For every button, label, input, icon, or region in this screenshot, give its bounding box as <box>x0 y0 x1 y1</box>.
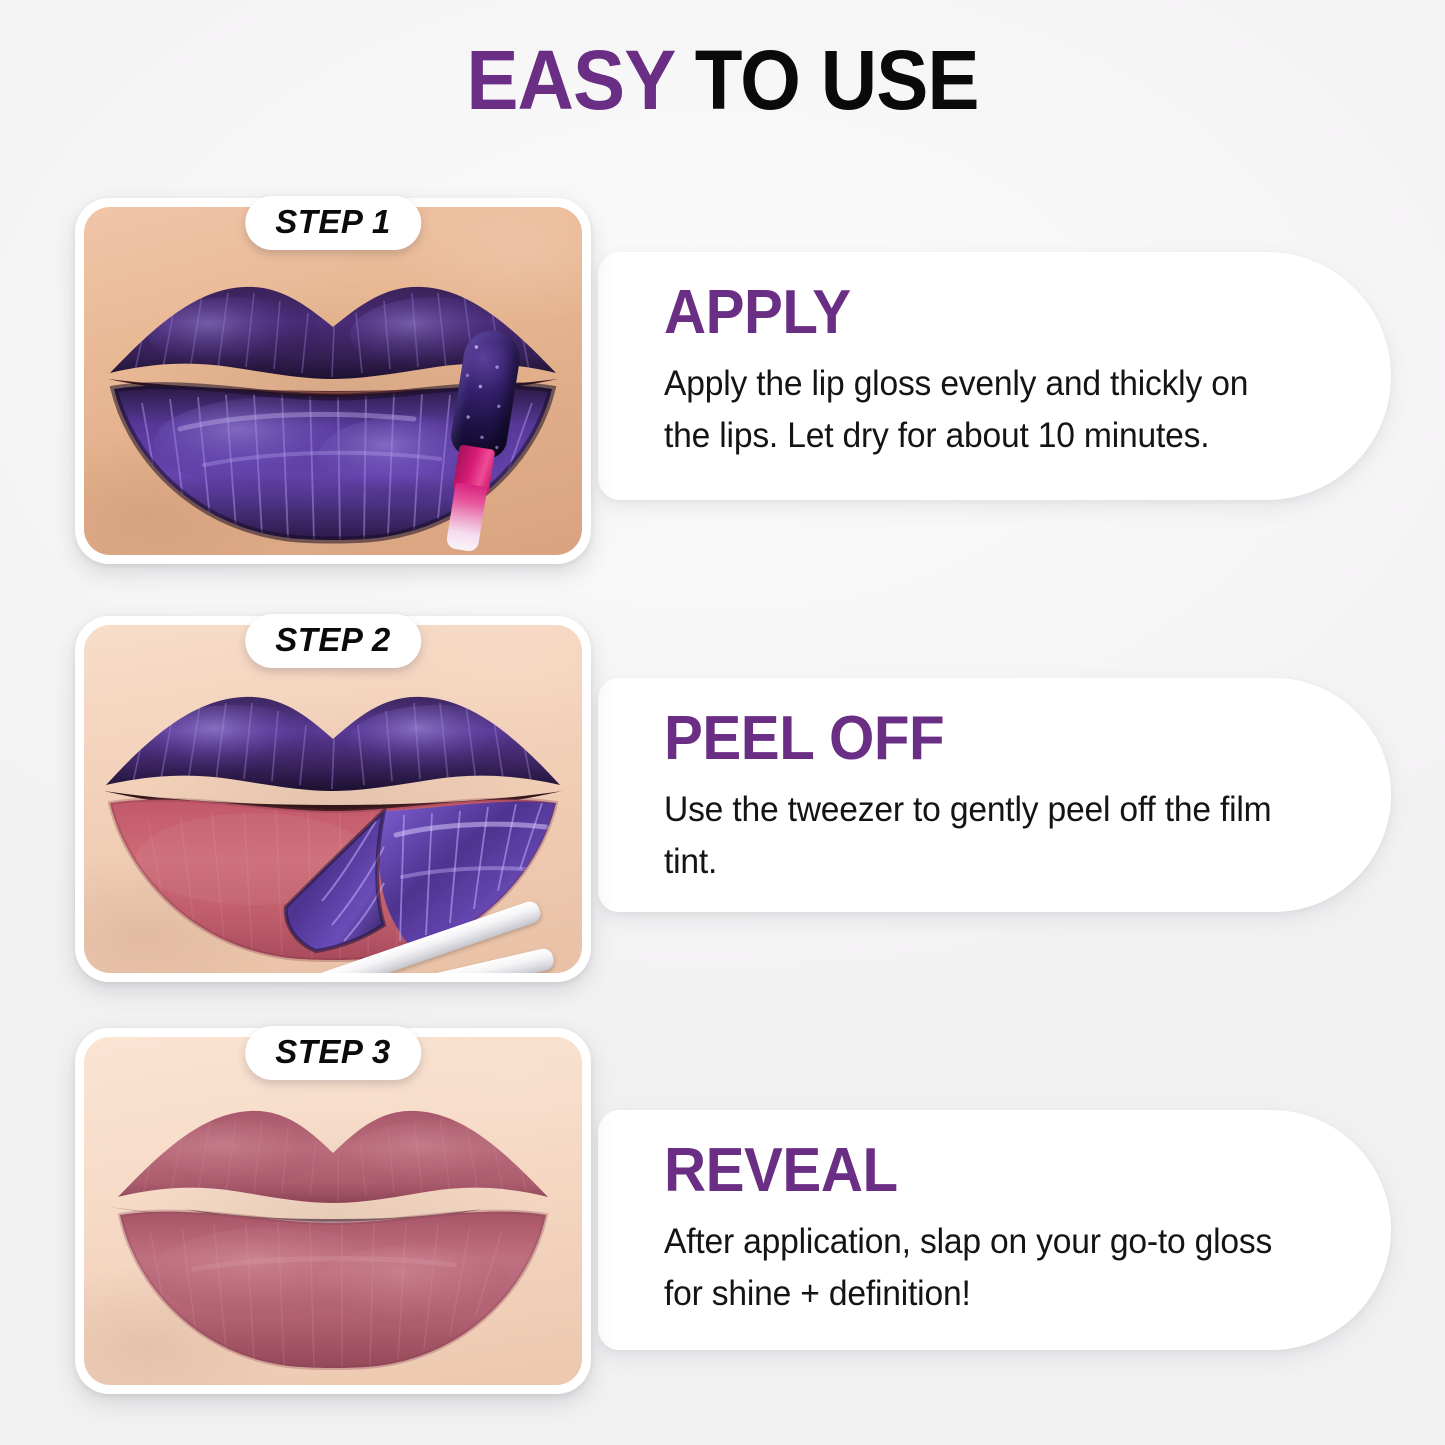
step-1-body: Apply the lip gloss evenly and thickly o… <box>664 358 1274 462</box>
wand-doe-foot-tip <box>448 326 523 461</box>
step-block-3: REVEAL After application, slap on your g… <box>0 1010 1445 1410</box>
step-3-body: After application, slap on your go-to gl… <box>664 1216 1274 1320</box>
page-title-rest: TO USE <box>695 33 979 127</box>
step-1-badge: STEP 1 <box>245 196 421 250</box>
wand-stem <box>445 482 487 552</box>
step-block-1: APPLY Apply the lip gloss evenly and thi… <box>0 180 1445 580</box>
step-2-body: Use the tweezer to gently peel off the f… <box>664 784 1274 888</box>
step-2-badge: STEP 2 <box>245 614 421 668</box>
page-title-highlight: EASY <box>466 33 674 127</box>
step-3-heading: REVEAL <box>664 1136 1261 1206</box>
page-title: EASY TO USE <box>51 34 1395 126</box>
step-1-photo <box>84 207 582 555</box>
step-3-badge: STEP 3 <box>245 1026 421 1080</box>
step-block-2: PEEL OFF Use the tweezer to gently peel … <box>0 598 1445 998</box>
step-3-photo-card: STEP 3 <box>75 1028 591 1394</box>
finished-rose-lips-illustration <box>84 1037 582 1385</box>
step-1-heading: APPLY <box>664 278 1261 348</box>
step-2-photo <box>84 625 582 973</box>
step-1-text-card: APPLY Apply the lip gloss evenly and thi… <box>598 252 1391 500</box>
step-2-text-card: PEEL OFF Use the tweezer to gently peel … <box>598 678 1391 912</box>
step-2-heading: PEEL OFF <box>664 704 1261 774</box>
step-2-photo-card: STEP 2 <box>75 616 591 982</box>
step-3-photo <box>84 1037 582 1385</box>
easy-to-use-infographic: EASY TO USE APPLY Apply the lip gloss ev… <box>0 0 1445 1445</box>
step-1-photo-card: STEP 1 <box>75 198 591 564</box>
step-3-text-card: REVEAL After application, slap on your g… <box>598 1110 1391 1350</box>
